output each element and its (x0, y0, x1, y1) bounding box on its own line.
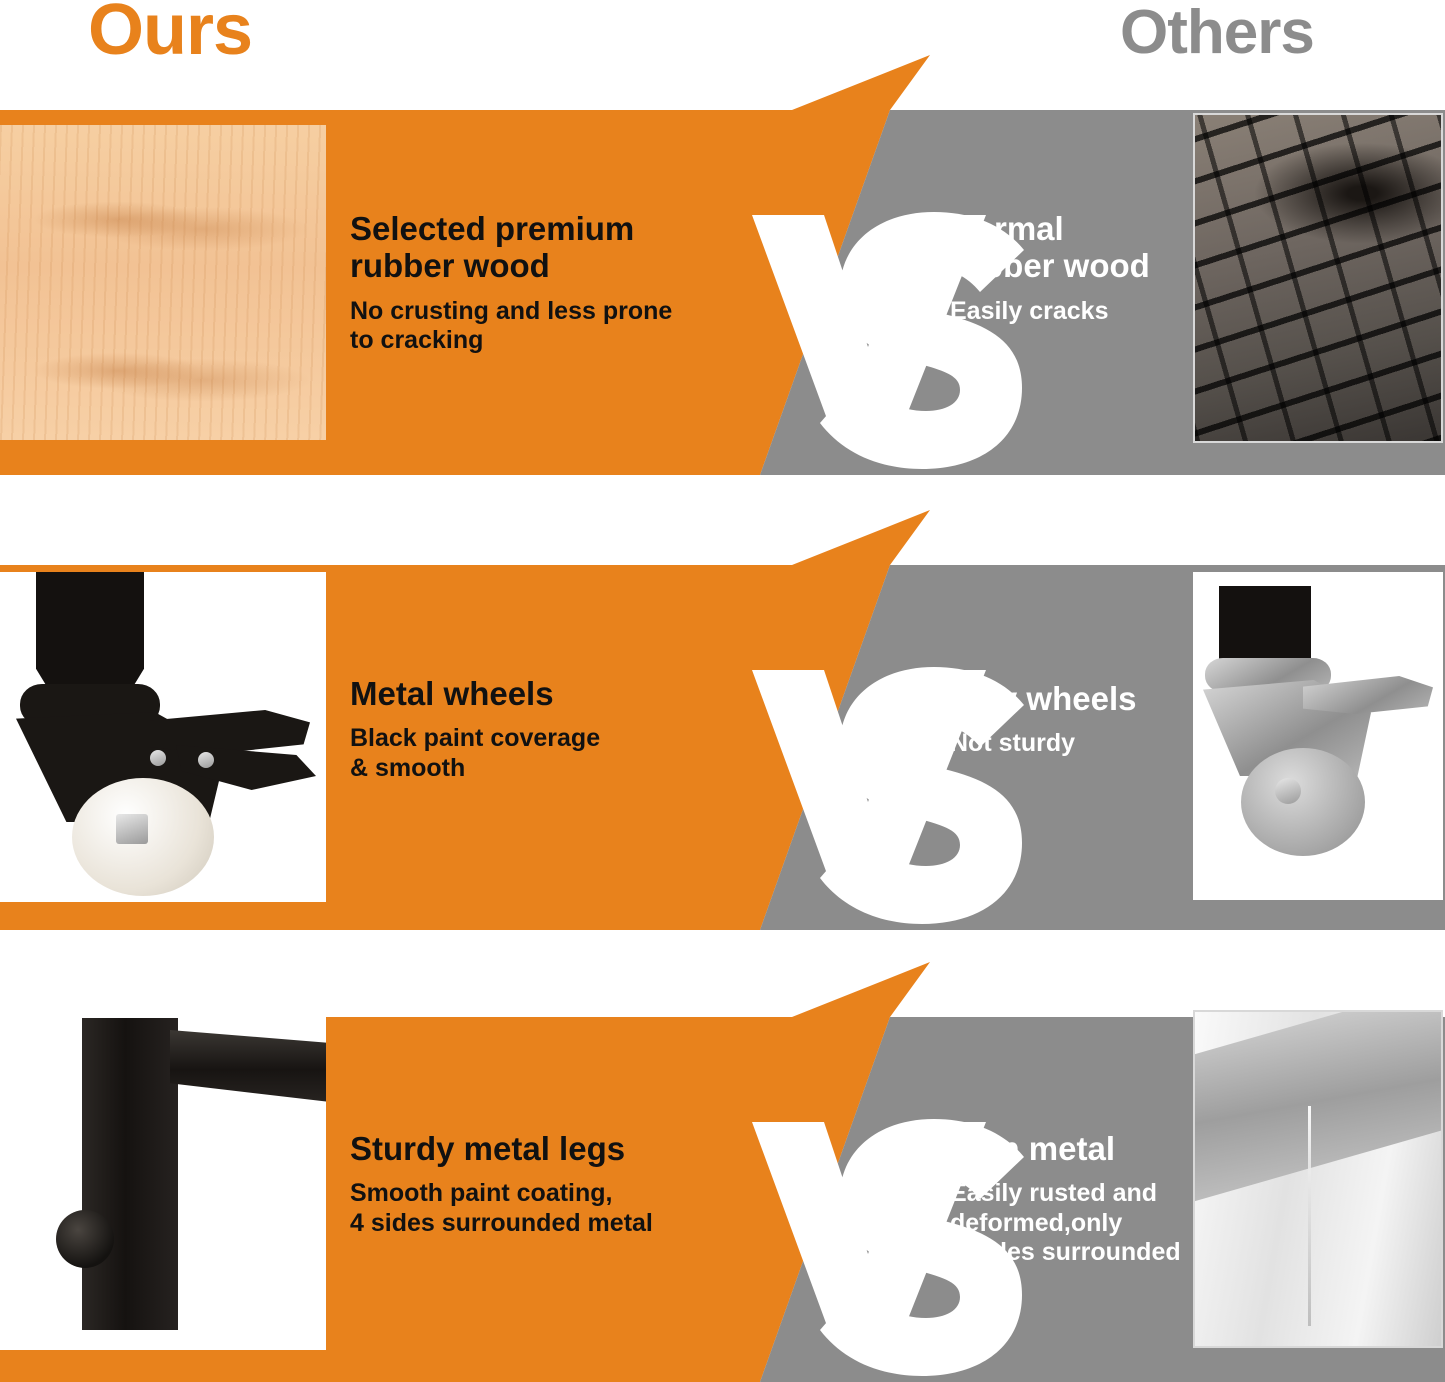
ours-text-block-3: Sturdy metal legs Smooth paint coating, … (350, 1130, 770, 1238)
others-title-1-line1: Normal (950, 210, 1200, 247)
ours-subtitle-2-line1: Black paint coverage (350, 724, 750, 754)
black-leg-art (0, 1010, 326, 1350)
ours-subtitle-1-line2: to cracking (350, 326, 750, 356)
caster-leg-tube (36, 572, 144, 690)
others-title-1: Normal rubber wood (950, 210, 1200, 285)
caster-leg-stub (1219, 586, 1311, 666)
others-subtitle-1-line1: Easily cracks (950, 297, 1200, 327)
ours-subtitle-3: Smooth paint coating, 4 sides surrounded… (350, 1179, 770, 1238)
stainless-corner-texture (1195, 1012, 1441, 1346)
others-subtitle-1: Easily cracks (950, 297, 1200, 327)
ours-title-3-line1: Sturdy metal legs (350, 1130, 770, 1167)
others-text-block-3: Thin metal Easily rusted and deformed,on… (950, 1130, 1200, 1268)
leg-horizontal-rail (170, 1030, 326, 1102)
grey-caster-art (1193, 572, 1443, 900)
photo-premium-rubber-wood (0, 125, 326, 440)
others-title-3-line1: Thin metal (950, 1130, 1200, 1167)
leg-vertical-post (82, 1018, 178, 1330)
photo-small-grey-caster (1193, 572, 1443, 900)
others-text-block-2: Tiny wheels Not sturdy (950, 680, 1190, 759)
others-subtitle-3-line2: deformed,only (950, 1209, 1200, 1239)
ours-text-block-2: Metal wheels Black paint coverage & smoo… (350, 675, 750, 783)
others-subtitle-2-line1: Not sturdy (950, 729, 1190, 759)
photo-black-metal-leg (0, 1010, 326, 1350)
ours-title-2: Metal wheels (350, 675, 750, 712)
photo-cracked-rubber-wood (1193, 113, 1443, 443)
ours-subtitle-3-line1: Smooth paint coating, (350, 1179, 770, 1209)
others-title-2: Tiny wheels (950, 680, 1190, 717)
others-subtitle-3: Easily rusted and deformed,only 3 sides … (950, 1179, 1200, 1268)
photo-black-metal-caster (0, 572, 326, 902)
ours-title-3: Sturdy metal legs (350, 1130, 770, 1167)
ours-title-1-line1: Selected premium (350, 210, 750, 247)
others-title-1-line2: rubber wood (950, 247, 1200, 284)
ours-title-1: Selected premium rubber wood (350, 210, 750, 285)
caster-axle-bolt (1275, 778, 1301, 804)
comparison-row-2: Metal wheels Black paint coverage & smoo… (0, 510, 1445, 930)
ours-subtitle-2: Black paint coverage & smooth (350, 724, 750, 783)
ours-text-block-1: Selected premium rubber wood No crusting… (350, 210, 750, 356)
others-text-block-1: Normal rubber wood Easily cracks (950, 210, 1200, 326)
ours-title-2-line1: Metal wheels (350, 675, 750, 712)
ours-subtitle-3-line2: 4 sides surrounded metal (350, 1209, 770, 1239)
comparison-row-1: Selected premium rubber wood No crusting… (0, 55, 1445, 475)
comparison-infographic: Ours Others Selected premium rubber wood (0, 0, 1445, 1382)
ours-subtitle-2-line2: & smooth (350, 754, 750, 784)
caster-brake-lever (150, 710, 310, 754)
others-subtitle-3-line3: 3 sides surrounded (950, 1238, 1200, 1268)
comparison-row-3: Sturdy metal legs Smooth paint coating, … (0, 962, 1445, 1382)
ours-title-1-line2: rubber wood (350, 247, 750, 284)
others-title-2-line1: Tiny wheels (950, 680, 1190, 717)
others-subtitle-2: Not sturdy (950, 729, 1190, 759)
black-caster-art (0, 572, 326, 902)
cracked-wood-texture (1195, 115, 1441, 441)
caster-wheel (1241, 748, 1365, 856)
ours-subtitle-1: No crusting and less prone to cracking (350, 297, 750, 356)
caster-axle-bolt (116, 814, 148, 844)
leg-star-knob (56, 1210, 114, 1268)
ours-subtitle-1-line1: No crusting and less prone (350, 297, 750, 327)
others-title-3: Thin metal (950, 1130, 1200, 1167)
wood-grain-texture (0, 125, 326, 440)
caster-screw-1 (150, 750, 166, 766)
others-subtitle-3-line1: Easily rusted and (950, 1179, 1200, 1209)
caster-screw-2 (198, 752, 214, 768)
photo-stainless-thin-metal-corner (1193, 1010, 1443, 1348)
